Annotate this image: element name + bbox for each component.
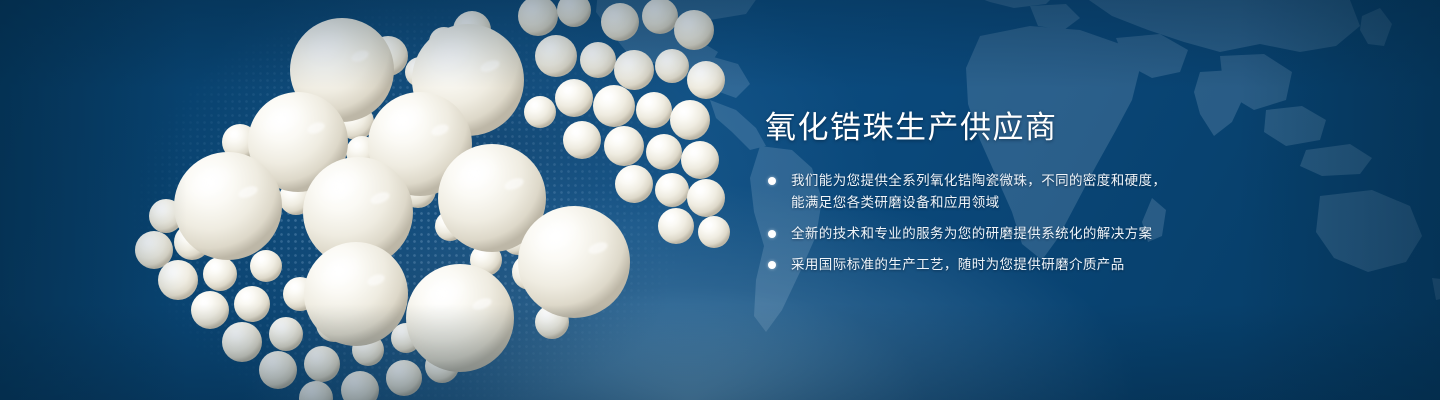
list-item: 采用国际标准的生产工艺，随时为您提供研磨介质产品 [765, 254, 1405, 276]
feature-list: 我们能为您提供全系列氧化锆陶瓷微珠，不同的密度和硬度， 能满足您各类研磨设备和应… [765, 170, 1405, 276]
bullet-dot-icon [768, 261, 776, 269]
list-item: 全新的技术和专业的服务为您的研磨提供系统化的解决方案 [765, 223, 1405, 245]
list-item-line: 能满足您各类研磨设备和应用领域 [791, 192, 1405, 214]
page-title: 氧化锆珠生产供应商 [765, 108, 1405, 148]
list-item-line: 采用国际标准的生产工艺，随时为您提供研磨介质产品 [791, 254, 1405, 276]
list-item-line: 全新的技术和专业的服务为您的研磨提供系统化的解决方案 [791, 223, 1405, 245]
bullet-dot-icon [768, 177, 776, 185]
list-item: 我们能为您提供全系列氧化锆陶瓷微珠，不同的密度和硬度， 能满足您各类研磨设备和应… [765, 170, 1405, 214]
bullet-dot-icon [768, 230, 776, 238]
list-item-line: 我们能为您提供全系列氧化锆陶瓷微珠，不同的密度和硬度， [791, 170, 1405, 192]
banner-copy: 氧化锆珠生产供应商 我们能为您提供全系列氧化锆陶瓷微珠，不同的密度和硬度， 能满… [765, 108, 1405, 276]
hero-banner: 氧化锆珠生产供应商 我们能为您提供全系列氧化锆陶瓷微珠，不同的密度和硬度， 能满… [0, 0, 1440, 400]
